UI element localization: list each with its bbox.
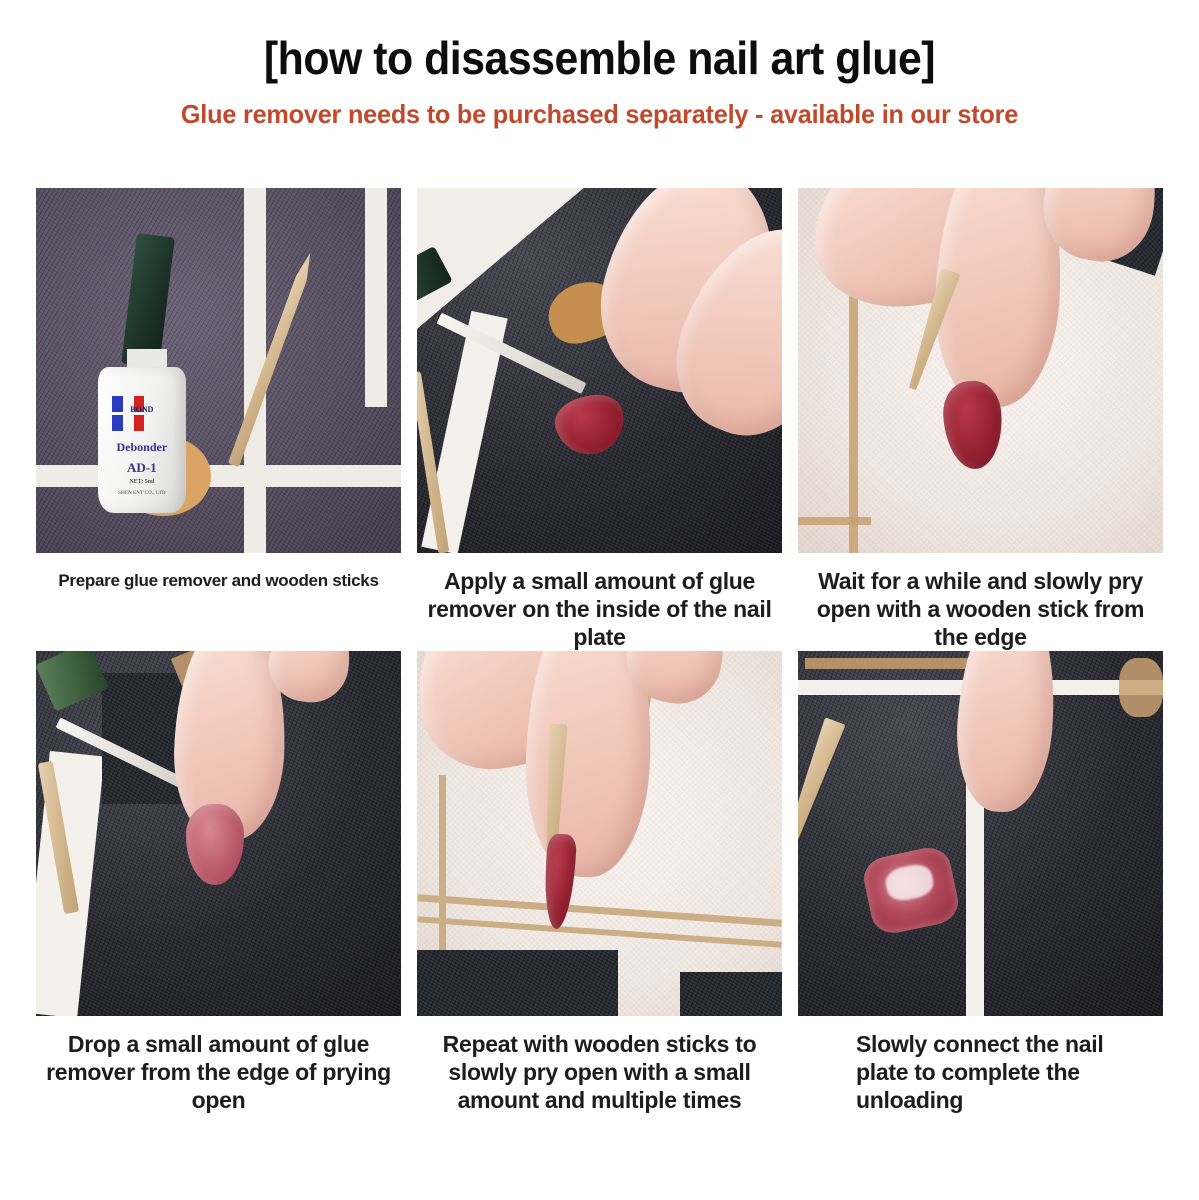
background-leather-texture [36, 188, 401, 553]
step-photo-2 [417, 188, 782, 553]
step-caption-2: Apply a small amount of glue remover on … [417, 553, 782, 651]
page-title: [how to disassemble nail art glue] [42, 34, 1157, 83]
decor-tan-stripe [439, 775, 446, 958]
step-caption-1: Prepare glue remover and wooden sticks [36, 553, 401, 592]
step-card-5: Repeat with wooden sticks to slowly pry … [417, 651, 782, 1114]
decor-tan-corner [1119, 658, 1163, 716]
brand-name: BOND [98, 405, 186, 414]
product-name: Debonder [98, 440, 186, 455]
steps-grid: BOND Debonder AD-1 NET: 5ml SHEN ENT CO.… [0, 188, 1199, 1114]
decor-tan-stripe [805, 658, 980, 669]
step-photo-3 [798, 188, 1163, 553]
product-code: AD-1 [98, 460, 186, 476]
infographic-page: [how to disassemble nail art glue] Glue … [0, 0, 1199, 1200]
decor-white-line-horizontal [36, 465, 401, 487]
step-photo-6 [798, 651, 1163, 1016]
product-net: NET: 5ml [98, 479, 186, 485]
step-caption-6: Slowly connect the nail plate to complet… [798, 1016, 1163, 1114]
step-caption-4: Drop a small amount of glue remover from… [36, 1016, 401, 1114]
page-subtitle: Glue remover needs to be purchased separ… [18, 99, 1181, 130]
header: [how to disassemble nail art glue] Glue … [0, 0, 1199, 130]
step-card-4: Drop a small amount of glue remover from… [36, 651, 401, 1114]
product-company: SHEN ENT CO., LTD [98, 491, 186, 496]
step-caption-5: Repeat with wooden sticks to slowly pry … [417, 1016, 782, 1114]
decor-dark-patch-bottom-2 [680, 972, 782, 1016]
bottle-body: BOND Debonder AD-1 NET: 5ml SHEN ENT CO.… [98, 367, 186, 513]
decor-tan-stripe [849, 283, 858, 553]
step-card-1: BOND Debonder AD-1 NET: 5ml SHEN ENT CO.… [36, 188, 401, 651]
decor-dark-patch-bottom [417, 950, 618, 1016]
step-card-3: Wait for a while and slowly pry open wit… [798, 188, 1163, 651]
decor-white-line-vertical-2 [365, 188, 387, 407]
step-card-6: Slowly connect the nail plate to complet… [798, 651, 1163, 1114]
step-photo-4 [36, 651, 401, 1016]
step-photo-1: BOND Debonder AD-1 NET: 5ml SHEN ENT CO.… [36, 188, 401, 553]
step-caption-3: Wait for a while and slowly pry open wit… [798, 553, 1163, 651]
step-card-2: Apply a small amount of glue remover on … [417, 188, 782, 651]
step-photo-5 [417, 651, 782, 1016]
decor-tan-stripe-2 [798, 517, 871, 526]
